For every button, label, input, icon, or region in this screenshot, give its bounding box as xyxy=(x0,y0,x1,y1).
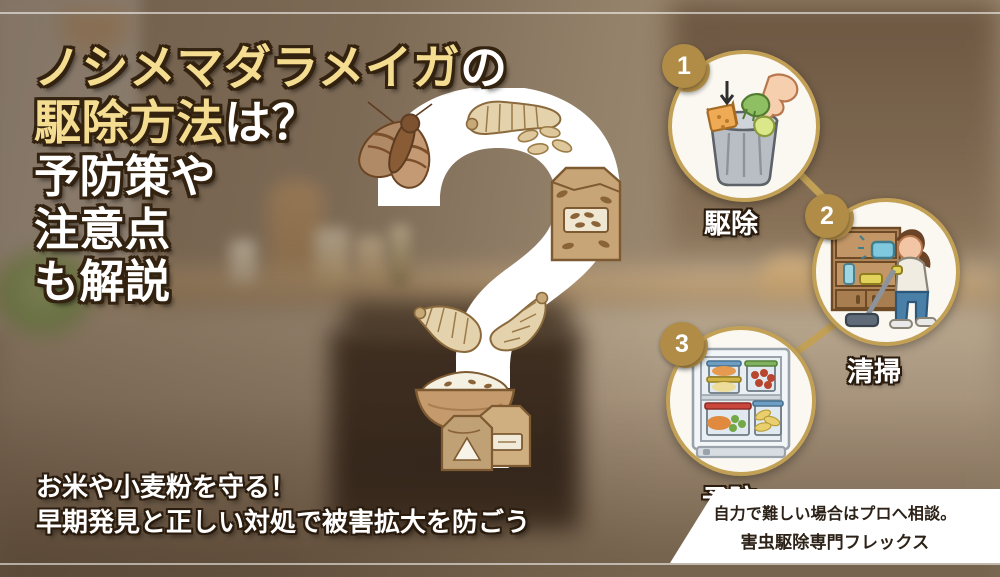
headline-line-1-yellow: ノシメマダラメイガ xyxy=(34,41,460,94)
brand-line-1: 自力で難しい場合はプロへ相談。 xyxy=(713,500,956,524)
step-1-label: 駆除 xyxy=(704,202,758,241)
step-1-number: 1 xyxy=(662,44,706,88)
bottom-divider-rule xyxy=(0,563,1000,565)
headline-line-2: 駆除方法は？ xyxy=(34,99,454,148)
step-2-label: 清掃 xyxy=(847,350,901,389)
infested-flour-bag-icon xyxy=(544,160,628,266)
headline-line-1: ノシメマダラメイガの xyxy=(34,44,454,93)
step-2-number: 2 xyxy=(805,194,849,238)
headline: ノシメマダラメイガの 駆除方法は？ 予防策や 注意点 も解説 xyxy=(34,44,454,312)
rice-grains-icon xyxy=(516,124,576,158)
step-diagram: 1 1 駆除 xyxy=(644,30,994,500)
subtitle-row-1: お米や小麦粉を守る！ xyxy=(36,470,530,505)
headline-line-3: 予防策や xyxy=(34,154,454,201)
headline-line-2-yellow: 駆除方法 xyxy=(34,96,224,149)
step-3-number: 3 xyxy=(660,322,704,366)
brand-line-2: 害虫駆除専門フレックス xyxy=(741,528,930,553)
top-divider-rule xyxy=(0,12,1000,14)
subtitle-row-2: 早期発見と正しい対処で被害拡大を防ごう xyxy=(36,505,530,540)
headline-line-1-white: の xyxy=(460,41,508,94)
subtitle: お米や小麦粉を守る！ 早期発見と正しい対処で被害拡大を防ごう xyxy=(36,470,530,540)
banner-root: ノシメマダラメイガの 駆除方法は？ 予防策や 注意点 も解説 お米や小麦粉を守る… xyxy=(0,0,1000,577)
headline-line-4: 注意点 xyxy=(34,207,454,254)
larva-icon xyxy=(480,288,560,360)
brand-box: 自力で難しい場合はプロへ相談。 害虫駆除専門フレックス xyxy=(670,489,1000,563)
flour-bags-icon xyxy=(436,400,534,474)
headline-line-2-white: は？ xyxy=(224,96,319,149)
headline-line-5: も解説 xyxy=(34,259,454,306)
